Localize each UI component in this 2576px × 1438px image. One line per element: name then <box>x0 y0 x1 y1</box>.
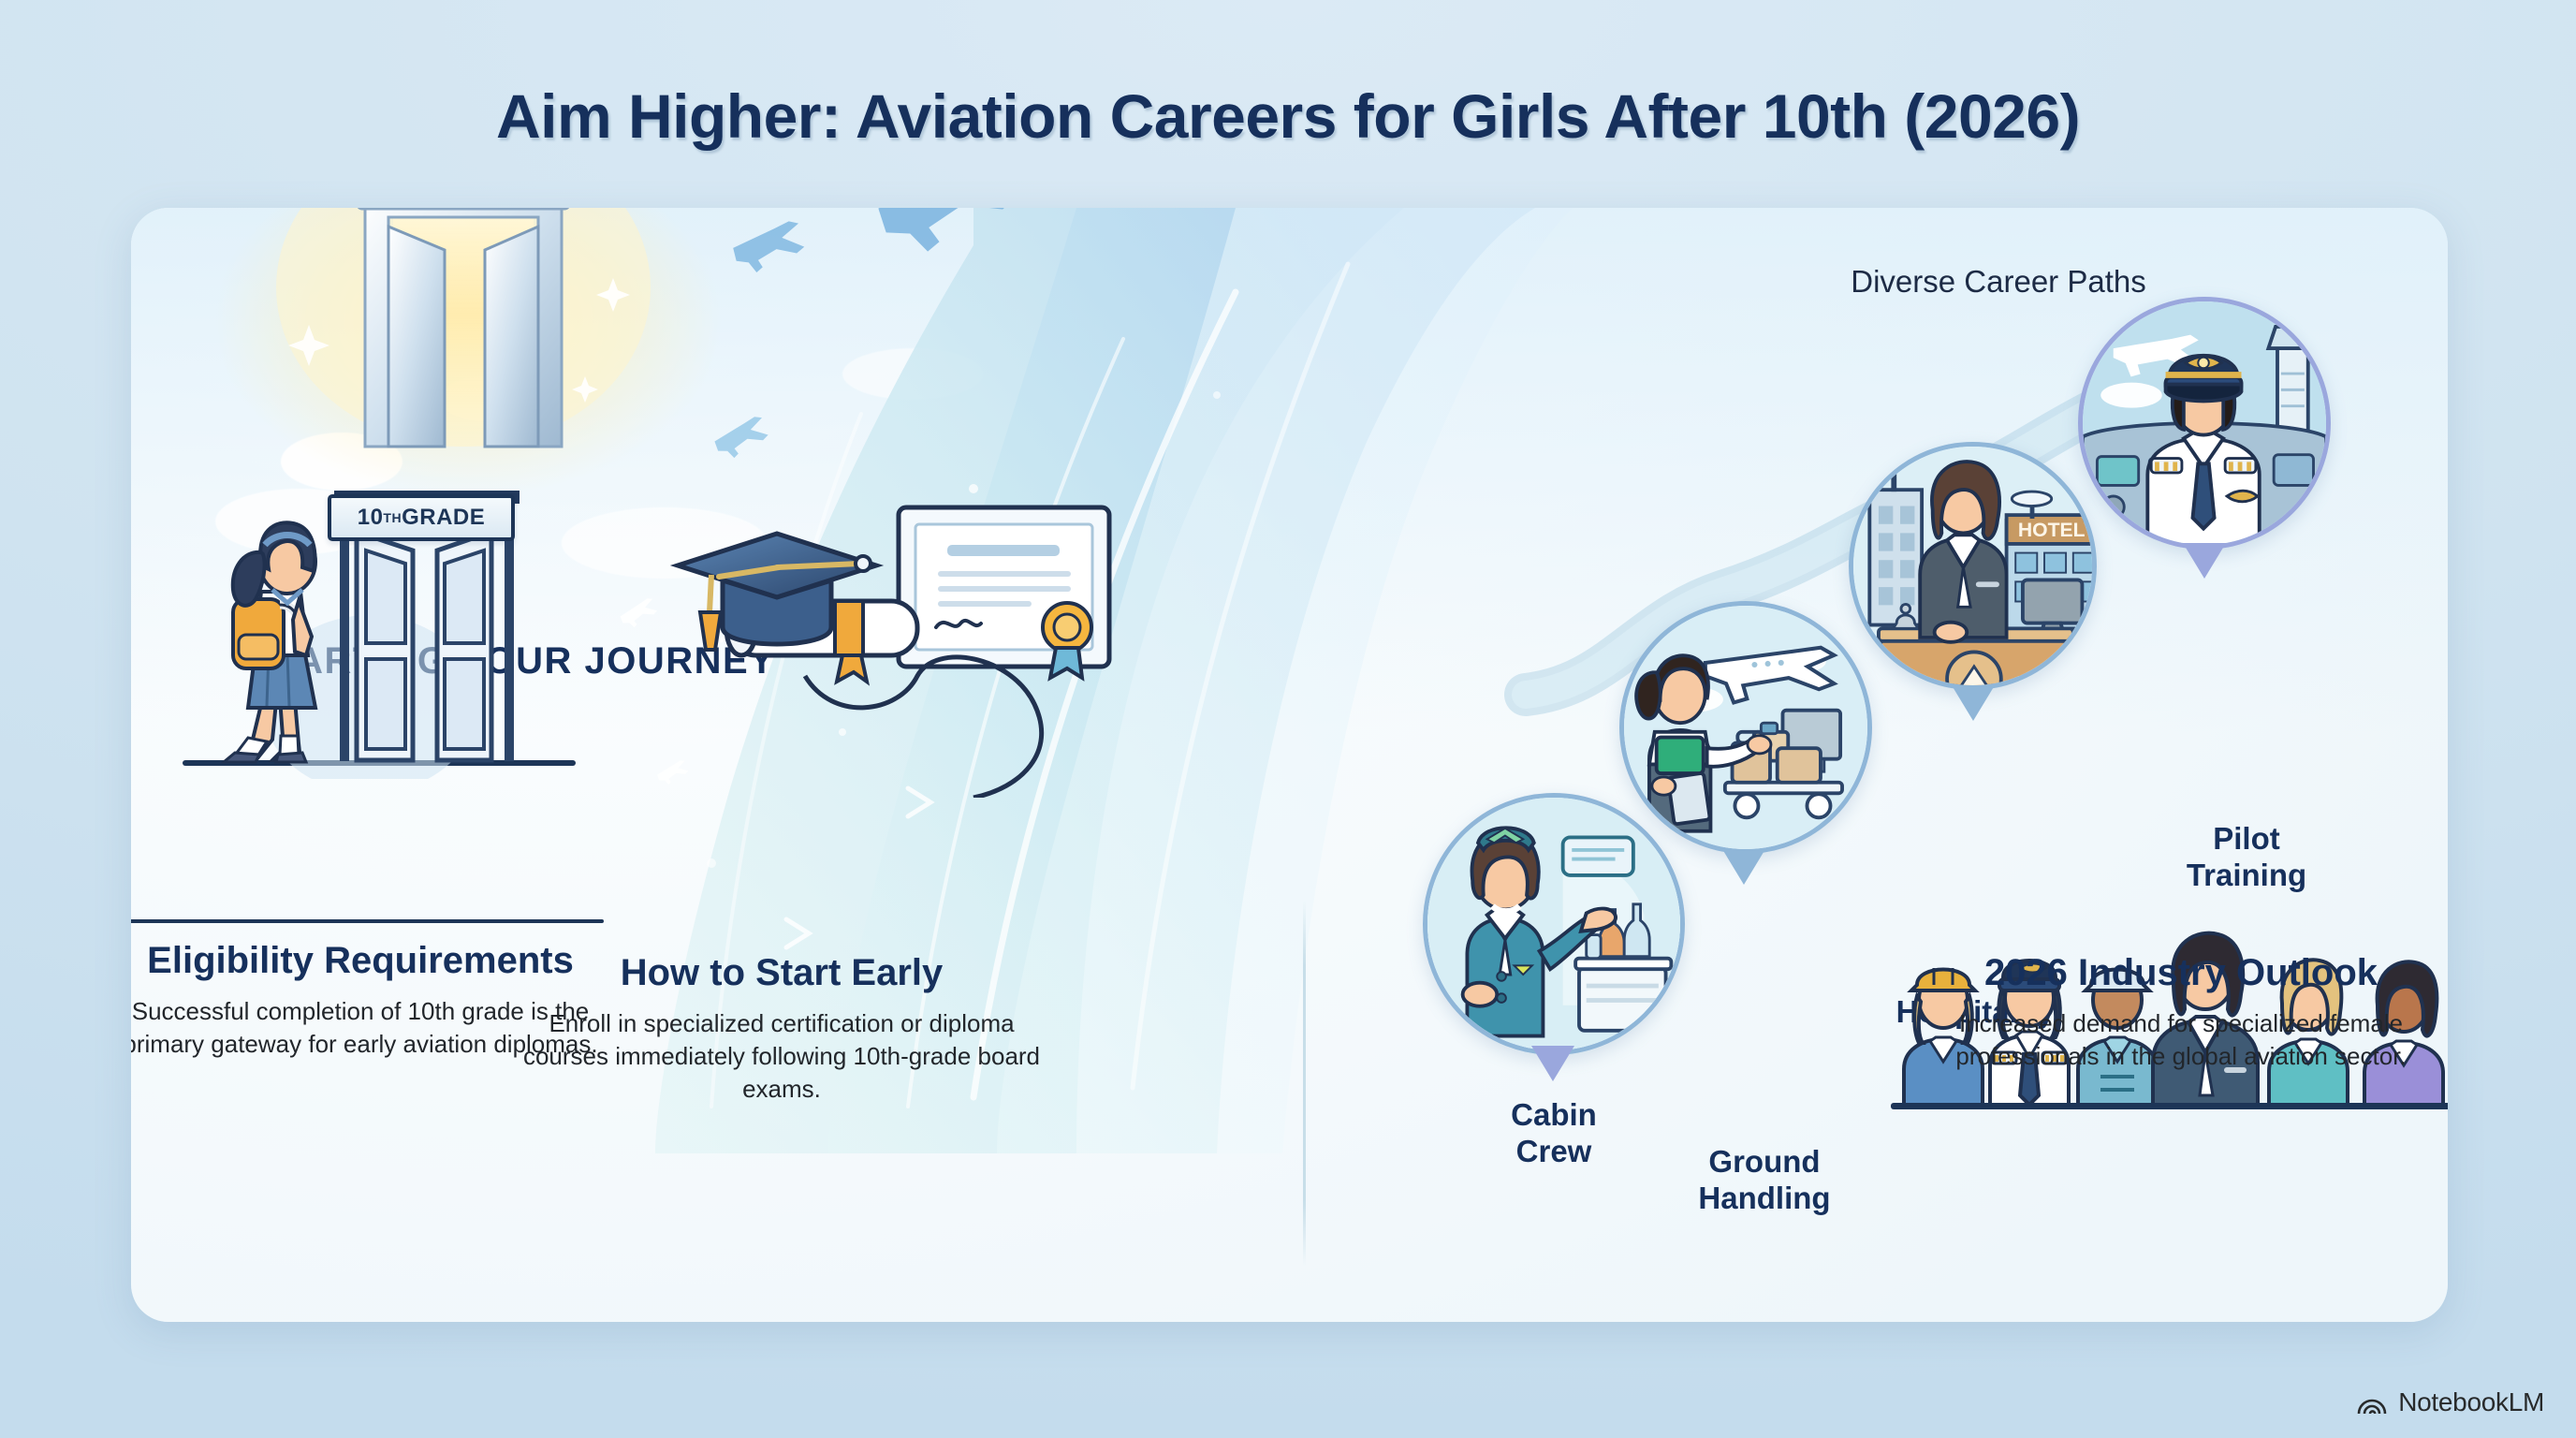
career-bubble-ground-handling[interactable] <box>1619 601 1872 854</box>
tenth-grade-sign-number: 10 <box>358 505 384 531</box>
career-bubble-hospitality[interactable]: HOTEL <box>1849 442 2097 690</box>
career-label-line2: Handling <box>1610 1181 1919 1217</box>
section-divider <box>1303 901 1306 1266</box>
hospitality-scene: HOTEL <box>1853 447 2092 685</box>
eligibility-rule <box>131 919 604 923</box>
start-early-block: How to Start Early Enroll in specialized… <box>510 952 1053 1106</box>
ground-handling-scene <box>1624 606 1867 849</box>
industry-outlook-body: Increased demand for specialized female … <box>1891 1007 2448 1073</box>
tenth-grade-sign: 10TH GRADE <box>328 494 515 541</box>
industry-outlook-block: 2026 Industry Outlook Increased demand f… <box>1891 952 2448 1073</box>
infographic-root: Aim Higher: Aviation Careers for Girls A… <box>0 0 2576 1438</box>
start-early-body: Enroll in specialized certification or d… <box>510 1007 1053 1106</box>
content-card: STARTING YOUR JOURNEY <box>131 208 2448 1322</box>
page-title: Aim Higher: Aviation Careers for Girls A… <box>0 81 2576 152</box>
pilot-training-scene <box>2083 301 2326 545</box>
notebooklm-label: NotebookLM <box>2398 1387 2544 1417</box>
svg-text:HOTEL: HOTEL <box>2018 520 2086 541</box>
career-label-line2: Training <box>2125 858 2368 894</box>
career-label-ground-handling: Ground Handling <box>1610 1144 1919 1217</box>
start-early-title: How to Start Early <box>510 952 1053 994</box>
tenth-grade-sign-word: GRADE <box>402 505 485 531</box>
career-label-pilot-training: Pilot Training <box>2125 821 2368 894</box>
diploma-certificate-illustration <box>618 489 1123 798</box>
industry-outlook-title: 2026 Industry Outlook <box>1891 952 2448 994</box>
career-label-line1: Ground <box>1610 1144 1919 1181</box>
tenth-grade-sign-ordinal: TH <box>383 510 402 525</box>
career-bubble-pilot-training[interactable] <box>2078 297 2331 550</box>
career-label-line1: Pilot <box>2125 821 2368 858</box>
notebooklm-watermark: NotebookLM <box>2357 1387 2544 1417</box>
notebooklm-logo-icon <box>2357 1389 2387 1416</box>
career-label-line1: Cabin <box>1395 1097 1713 1134</box>
